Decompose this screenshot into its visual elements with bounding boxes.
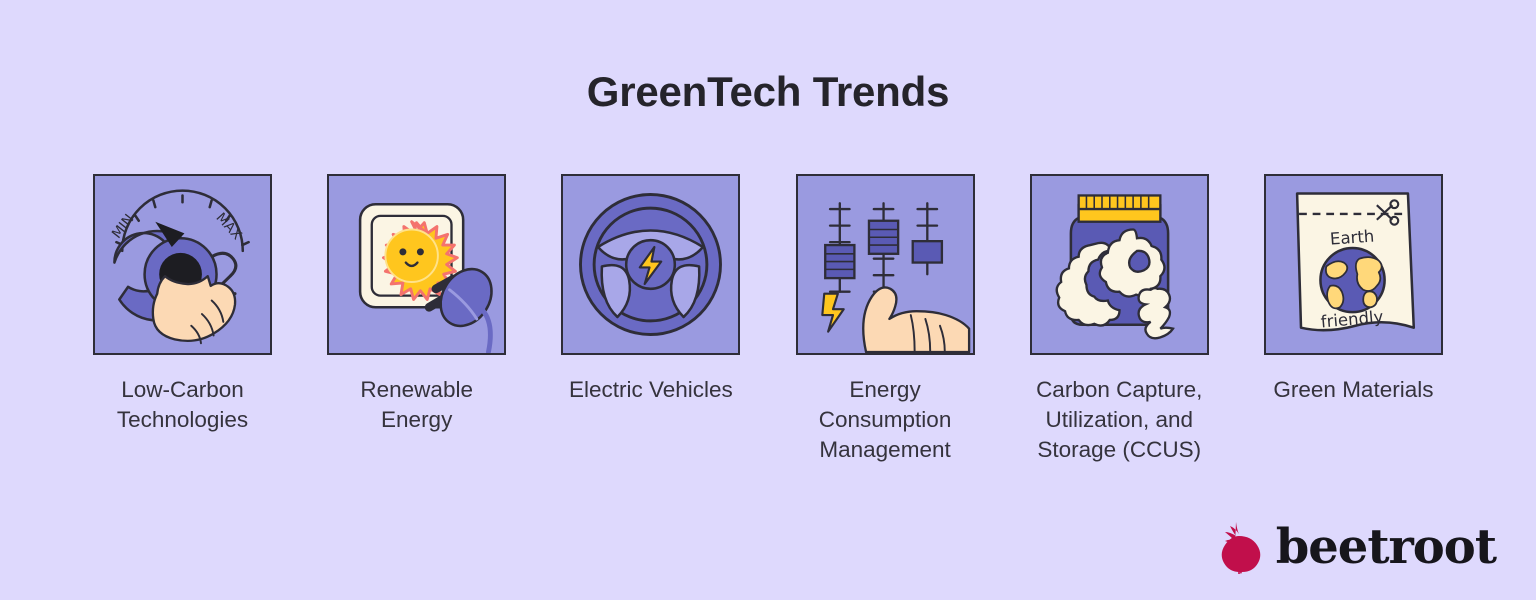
- jar-lid-band: [1078, 209, 1160, 222]
- label-text-top: Earth: [1329, 227, 1375, 249]
- trend-card-label: Low-Carbon Technologies: [78, 375, 288, 435]
- icon-tile-low-carbon: MIN MAX: [93, 174, 272, 355]
- page-title: GreenTech Trends: [0, 68, 1536, 116]
- sun-eye-right: [417, 248, 424, 255]
- infographic-page: GreenTech Trends MIN MA: [0, 0, 1536, 600]
- beet-icon: [1216, 520, 1262, 574]
- trend-card-label: Green Materials: [1248, 375, 1458, 405]
- trend-card: Electric Vehicles: [560, 174, 741, 405]
- electric-steering-wheel-icon: [563, 176, 738, 353]
- energy-sliders-hand-icon: [798, 176, 973, 353]
- icon-tile-electric-vehicles: [561, 174, 740, 355]
- icon-tile-green-materials: Earth friendly: [1264, 174, 1443, 355]
- lightning-bolt-icon: [822, 294, 843, 332]
- icon-tile-renewable-energy: [327, 174, 506, 355]
- trend-card: Renewable Energy: [326, 174, 507, 435]
- sun-face: [386, 230, 439, 283]
- co2-dial-icon: MIN MAX: [95, 176, 270, 353]
- trend-card: Energy Consumption Management: [795, 174, 976, 465]
- trend-card-label: Electric Vehicles: [546, 375, 756, 405]
- beetroot-logo[interactable]: beetroot: [1216, 520, 1496, 574]
- trend-card: Earth friendly Green Materials: [1263, 174, 1444, 405]
- hand-shape: [863, 287, 969, 352]
- trend-card: Carbon Capture, Utilization, and Storage…: [1029, 174, 1210, 465]
- icon-tile-energy-management: [796, 174, 975, 355]
- trend-card-row: MIN MAX Low-Carbon Technologies: [92, 174, 1444, 465]
- dial-max-label: MAX: [213, 210, 245, 243]
- hand-shape: [153, 276, 235, 341]
- logo-text: beetroot: [1276, 523, 1496, 571]
- trend-card-label: Energy Consumption Management: [780, 375, 990, 465]
- trend-card-label: Carbon Capture, Utilization, and Storage…: [1014, 375, 1224, 465]
- earth-friendly-label-icon: Earth friendly: [1266, 176, 1441, 353]
- icon-tile-ccus: [1030, 174, 1209, 355]
- co2-storage-jar-icon: [1032, 176, 1207, 353]
- sun-eye-left: [400, 248, 407, 255]
- solar-outlet-plug-icon: [329, 176, 504, 353]
- trend-card-label: Renewable Energy: [312, 375, 522, 435]
- trend-card: MIN MAX Low-Carbon Technologies: [92, 174, 273, 435]
